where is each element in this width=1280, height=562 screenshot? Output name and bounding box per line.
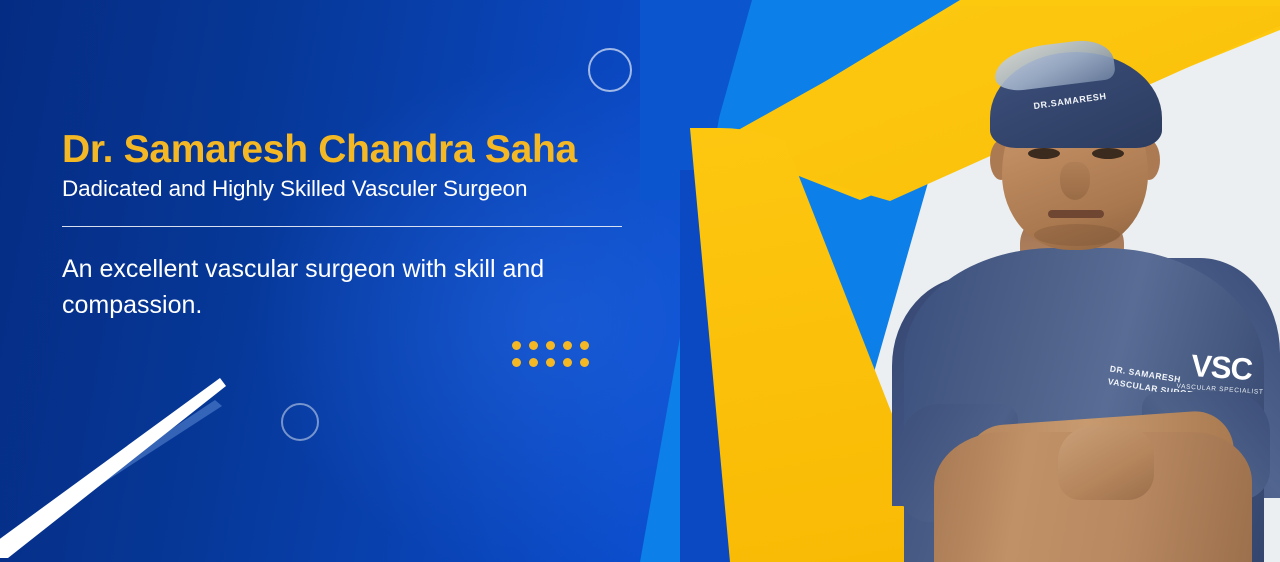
grid-dot: [563, 341, 572, 350]
circle-outline-top-icon: [588, 48, 632, 92]
grid-dot: [512, 341, 521, 350]
left-eye: [1028, 148, 1060, 159]
circle-outline-bottom-icon: [281, 403, 319, 441]
doctor-tagline: Dadicated and Highly Skilled Vasculer Su…: [62, 176, 642, 202]
chin-shadow: [1034, 224, 1120, 246]
doctor-description: An excellent vascular surgeon with skill…: [62, 251, 607, 324]
grid-dot: [546, 358, 555, 367]
right-eye: [1092, 148, 1124, 159]
grid-dot: [529, 358, 538, 367]
hero-copy-block: Dr. Samaresh Chandra Saha Dadicated and …: [62, 128, 642, 324]
grid-dot: [529, 341, 538, 350]
grid-dot: [580, 341, 589, 350]
mouth: [1048, 210, 1104, 218]
copy-divider: [62, 226, 622, 228]
doctor-hero-banner: Dr. Samaresh Chandra Saha Dadicated and …: [0, 0, 1280, 562]
hand: [1058, 426, 1154, 500]
grid-dot: [512, 358, 521, 367]
grid-dot: [546, 341, 555, 350]
grid-dot: [563, 358, 572, 367]
nose: [1060, 162, 1090, 200]
grid-dot: [580, 358, 589, 367]
dot-grid-decoration: [512, 341, 597, 375]
doctor-name-heading: Dr. Samaresh Chandra Saha: [62, 128, 642, 172]
doctor-portrait: DR.SAMARESH VSC VASCULAR SPECIALIST CENT…: [862, 0, 1280, 562]
